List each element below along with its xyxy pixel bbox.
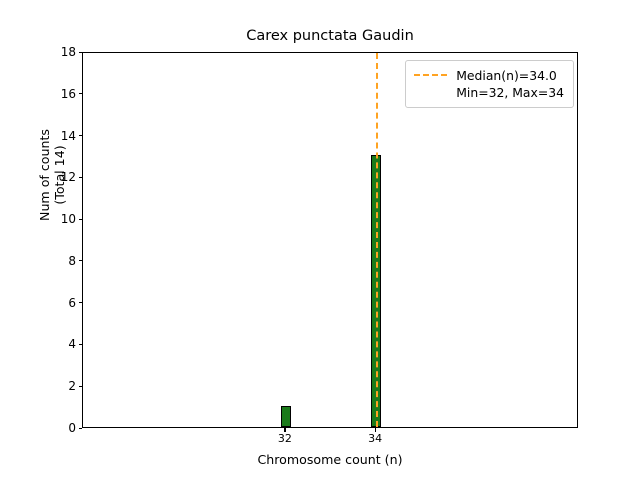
chart-figure: Carex punctata Gaudin Num of counts (Tot… [0, 0, 640, 480]
x-axis-label: Chromosome count (n) [82, 452, 578, 467]
median-line [376, 53, 378, 427]
y-axis-tick-label: 18 [0, 45, 76, 59]
legend-minmax-label: Min=32, Max=34 [456, 84, 564, 101]
legend-dashed-line-swatch [414, 74, 447, 76]
y-axis-tick-label: 14 [0, 129, 76, 143]
y-axis-tick-label: 4 [0, 337, 76, 351]
y-axis-tick-label: 10 [0, 212, 76, 226]
y-axis-tick-label: 16 [0, 87, 76, 101]
x-axis-tick-mark [284, 428, 285, 432]
x-axis-tick-label: 34 [368, 432, 382, 445]
x-axis-tick-mark [375, 428, 376, 432]
chart-title: Carex punctata Gaudin [82, 28, 578, 44]
legend-text: Median(n)=34.0 Min=32, Max=34 [456, 67, 564, 101]
y-axis-tick-label: 12 [0, 170, 76, 184]
y-axis-tick-label: 6 [0, 296, 76, 310]
legend-median-label: Median(n)=34.0 [456, 67, 564, 84]
x-axis-tick-label: 32 [278, 432, 292, 445]
y-axis-tick-label: 0 [0, 421, 76, 435]
chart-legend: Median(n)=34.0 Min=32, Max=34 [405, 60, 574, 108]
plot-area: Median(n)=34.0 Min=32, Max=34 [82, 52, 578, 428]
y-axis-tick-label: 8 [0, 254, 76, 268]
bar [281, 406, 291, 427]
y-axis-tick-label: 2 [0, 379, 76, 393]
